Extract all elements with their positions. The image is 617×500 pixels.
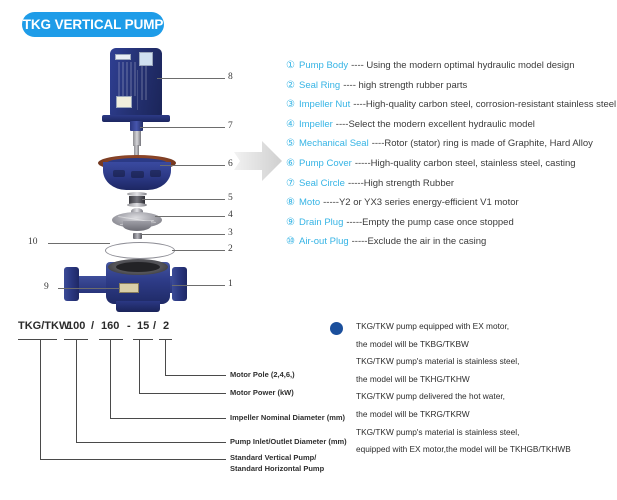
- model-underline-series: [18, 339, 57, 340]
- legend-number-6: ⑥: [286, 158, 299, 169]
- legend-item-2: ② Seal Ring ---- high strength rubber pa…: [286, 80, 617, 100]
- note-line-3: TKG/TKW pump's material is stainless ste…: [356, 353, 617, 371]
- shaft-graphic: [133, 131, 141, 146]
- callout-line-8: [157, 78, 225, 79]
- callout-line-9: [58, 288, 120, 289]
- callout-line-6: [160, 165, 225, 166]
- legend-description-4: ----Select the modern excellent hydrauli…: [336, 119, 535, 130]
- leader-vline-motor-power: [139, 339, 140, 393]
- callout-number-2: 2: [228, 244, 233, 254]
- legend-part-name-1: Pump Body: [299, 60, 348, 71]
- shaft-coupling-graphic: [130, 121, 143, 131]
- leader-hline-impeller-diameter: [110, 418, 226, 419]
- leader-hline-series: [40, 459, 226, 460]
- legend-part-name-9: Drain Plug: [299, 217, 343, 228]
- callout-number-9: 9: [44, 282, 49, 292]
- legend-item-10: ⑩ Air-out Plug -----Exclude the air in t…: [286, 236, 617, 256]
- callout-number-4: 4: [228, 210, 233, 220]
- note-line-2: the model will be TKBG/TKBW: [356, 336, 617, 354]
- legend-description-3: ----High-quality carbon steel, corrosion…: [353, 99, 616, 110]
- bullet-point-icon: [330, 322, 343, 335]
- callout-number-1: 1: [228, 279, 233, 289]
- legend-description-2: ---- high strength rubber parts: [343, 80, 467, 91]
- legend-number-3: ③: [286, 99, 299, 110]
- leader-vline-motor-pole: [165, 339, 166, 375]
- model-separator-1: /: [91, 320, 94, 332]
- legend-item-9: ⑨ Drain Plug -----Empty the pump case on…: [286, 217, 617, 237]
- legend-number-10: ⑩: [286, 236, 299, 247]
- legend-number-9: ⑨: [286, 217, 299, 228]
- motor-body-graphic: [110, 48, 162, 116]
- callout-line-7: [140, 127, 225, 128]
- legend-item-8: ⑧ Moto -----Y2 or YX3 series energy-effi…: [286, 197, 617, 217]
- legend-number-4: ④: [286, 119, 299, 130]
- callout-line-2: [172, 250, 225, 251]
- legend-item-3: ③ Impeller Nut ----High-quality carbon s…: [286, 99, 617, 119]
- legend-item-7: ⑦ Seal Circle -----High strength Rubber: [286, 178, 617, 198]
- model-token-series: TKG/TKW: [18, 320, 69, 332]
- leader-hline-inlet-diameter: [76, 442, 226, 443]
- leader-vline-series: [40, 339, 41, 459]
- legend-description-8: -----Y2 or YX3 series energy-efficient V…: [323, 197, 519, 208]
- legend-part-name-7: Seal Circle: [299, 178, 345, 189]
- model-code-breakdown: TKG/TKW 100 / 160 - 15 / 2 Motor Pole (2…: [0, 310, 320, 500]
- note-line-5: TKG/TKW pump delivered the hot water,: [356, 388, 617, 406]
- impeller-skirt-graphic: [123, 221, 151, 231]
- legend-description-1: ---- Using the modern optimal hydraulic …: [351, 60, 574, 71]
- legend-part-name-8: Moto: [299, 197, 320, 208]
- arrow-right-icon: [232, 138, 284, 184]
- model-label-impeller-diameter: Impeller Nominal Diameter (mm): [230, 413, 345, 422]
- legend-number-2: ②: [286, 80, 299, 91]
- leader-vline-inlet-diameter: [76, 339, 77, 442]
- model-label-series-line1: Standard Vertical Pump/: [230, 453, 316, 462]
- model-label-motor-power: Motor Power (kW): [230, 388, 294, 397]
- legend-description-5: ----Rotor (stator) ring is made of Graph…: [372, 138, 593, 149]
- legend-number-1: ①: [286, 60, 299, 71]
- legend-part-name-4: Impeller: [299, 119, 333, 130]
- legend-item-1: ① Pump Body ---- Using the modern optima…: [286, 60, 617, 80]
- seal-ring-graphic: [105, 242, 175, 259]
- legend-description-9: -----Empty the pump case once stopped: [346, 217, 513, 228]
- note-line-7: TKG/TKW pump's material is stainless ste…: [356, 424, 617, 442]
- leader-vline-impeller-diameter: [110, 339, 111, 418]
- mechanical-seal-graphic: [127, 192, 147, 208]
- legend-part-name-3: Impeller Nut: [299, 99, 350, 110]
- model-token-motor-power: 15: [137, 320, 149, 332]
- pump-body-bore-inner-graphic: [116, 262, 160, 272]
- legend-number-5: ⑤: [286, 138, 299, 149]
- model-underline-impeller: [99, 339, 123, 340]
- callout-number-7: 7: [228, 121, 233, 131]
- callout-line-5: [142, 199, 225, 200]
- note-line-4: the model will be TKHG/TKHW: [356, 371, 617, 389]
- legend-description-7: -----High strength Rubber: [348, 178, 454, 189]
- callout-number-5: 5: [228, 193, 233, 203]
- legend-part-name-5: Mechanical Seal: [299, 138, 369, 149]
- model-variant-notes: TKG/TKW pump equipped with EX motor, the…: [330, 318, 617, 459]
- legend-item-4: ④ Impeller ----Select the modern excelle…: [286, 119, 617, 139]
- model-token-inlet-diameter: 100: [67, 320, 85, 332]
- parts-legend-list: ① Pump Body ---- Using the modern optima…: [286, 60, 617, 256]
- model-underline-power: [133, 339, 153, 340]
- legend-number-8: ⑧: [286, 197, 299, 208]
- model-separator-3: /: [153, 320, 156, 332]
- callout-line-3: [141, 234, 225, 235]
- leader-hline-motor-power: [139, 393, 226, 394]
- outlet-flange-graphic: [172, 267, 187, 301]
- legend-part-name-10: Air-out Plug: [299, 236, 349, 247]
- callout-number-3: 3: [228, 228, 233, 238]
- callout-line-10: [48, 243, 110, 244]
- legend-description-10: -----Exclude the air in the casing: [352, 236, 487, 247]
- note-line-8: equipped with EX motor,the model will be…: [356, 441, 617, 459]
- pump-cover-graphic: [103, 162, 171, 190]
- page-title-badge: TKG VERTICAL PUMP: [22, 12, 164, 37]
- callout-line-1: [172, 285, 225, 286]
- callout-number-8: 8: [228, 72, 233, 82]
- legend-part-name-2: Seal Ring: [299, 80, 340, 91]
- note-line-6: the model will be TKRG/TKRW: [356, 406, 617, 424]
- pump-product-sheet: TKG VERTICAL PUMP: [0, 0, 617, 500]
- inlet-neck-graphic: [78, 276, 108, 293]
- legend-description-6: -----High-quality carbon steel, stainles…: [355, 158, 576, 169]
- model-token-motor-pole: 2: [163, 320, 169, 332]
- legend-item-6: ⑥ Pump Cover -----High-quality carbon st…: [286, 158, 617, 178]
- pump-nameplate-graphic: [119, 283, 139, 293]
- model-label-series-line2: Standard Horizontal Pump: [230, 464, 324, 473]
- legend-number-7: ⑦: [286, 178, 299, 189]
- page-title: TKG VERTICAL PUMP: [23, 17, 164, 32]
- callout-line-4: [155, 216, 225, 217]
- legend-part-name-6: Pump Cover: [299, 158, 352, 169]
- inlet-flange-graphic: [64, 267, 79, 301]
- note-line-1: TKG/TKW pump equipped with EX motor,: [356, 318, 617, 336]
- callout-number-10: 10: [28, 237, 38, 247]
- legend-item-5: ⑤ Mechanical Seal ----Rotor (stator) rin…: [286, 138, 617, 158]
- model-label-motor-pole: Motor Pole (2,4,6,): [230, 370, 295, 379]
- leader-hline-motor-pole: [165, 375, 226, 376]
- model-token-impeller-diameter: 160: [101, 320, 119, 332]
- exploded-pump-diagram: 8 7 6 5 4 3 2 1 10 9: [20, 45, 250, 300]
- model-separator-2: -: [127, 320, 131, 332]
